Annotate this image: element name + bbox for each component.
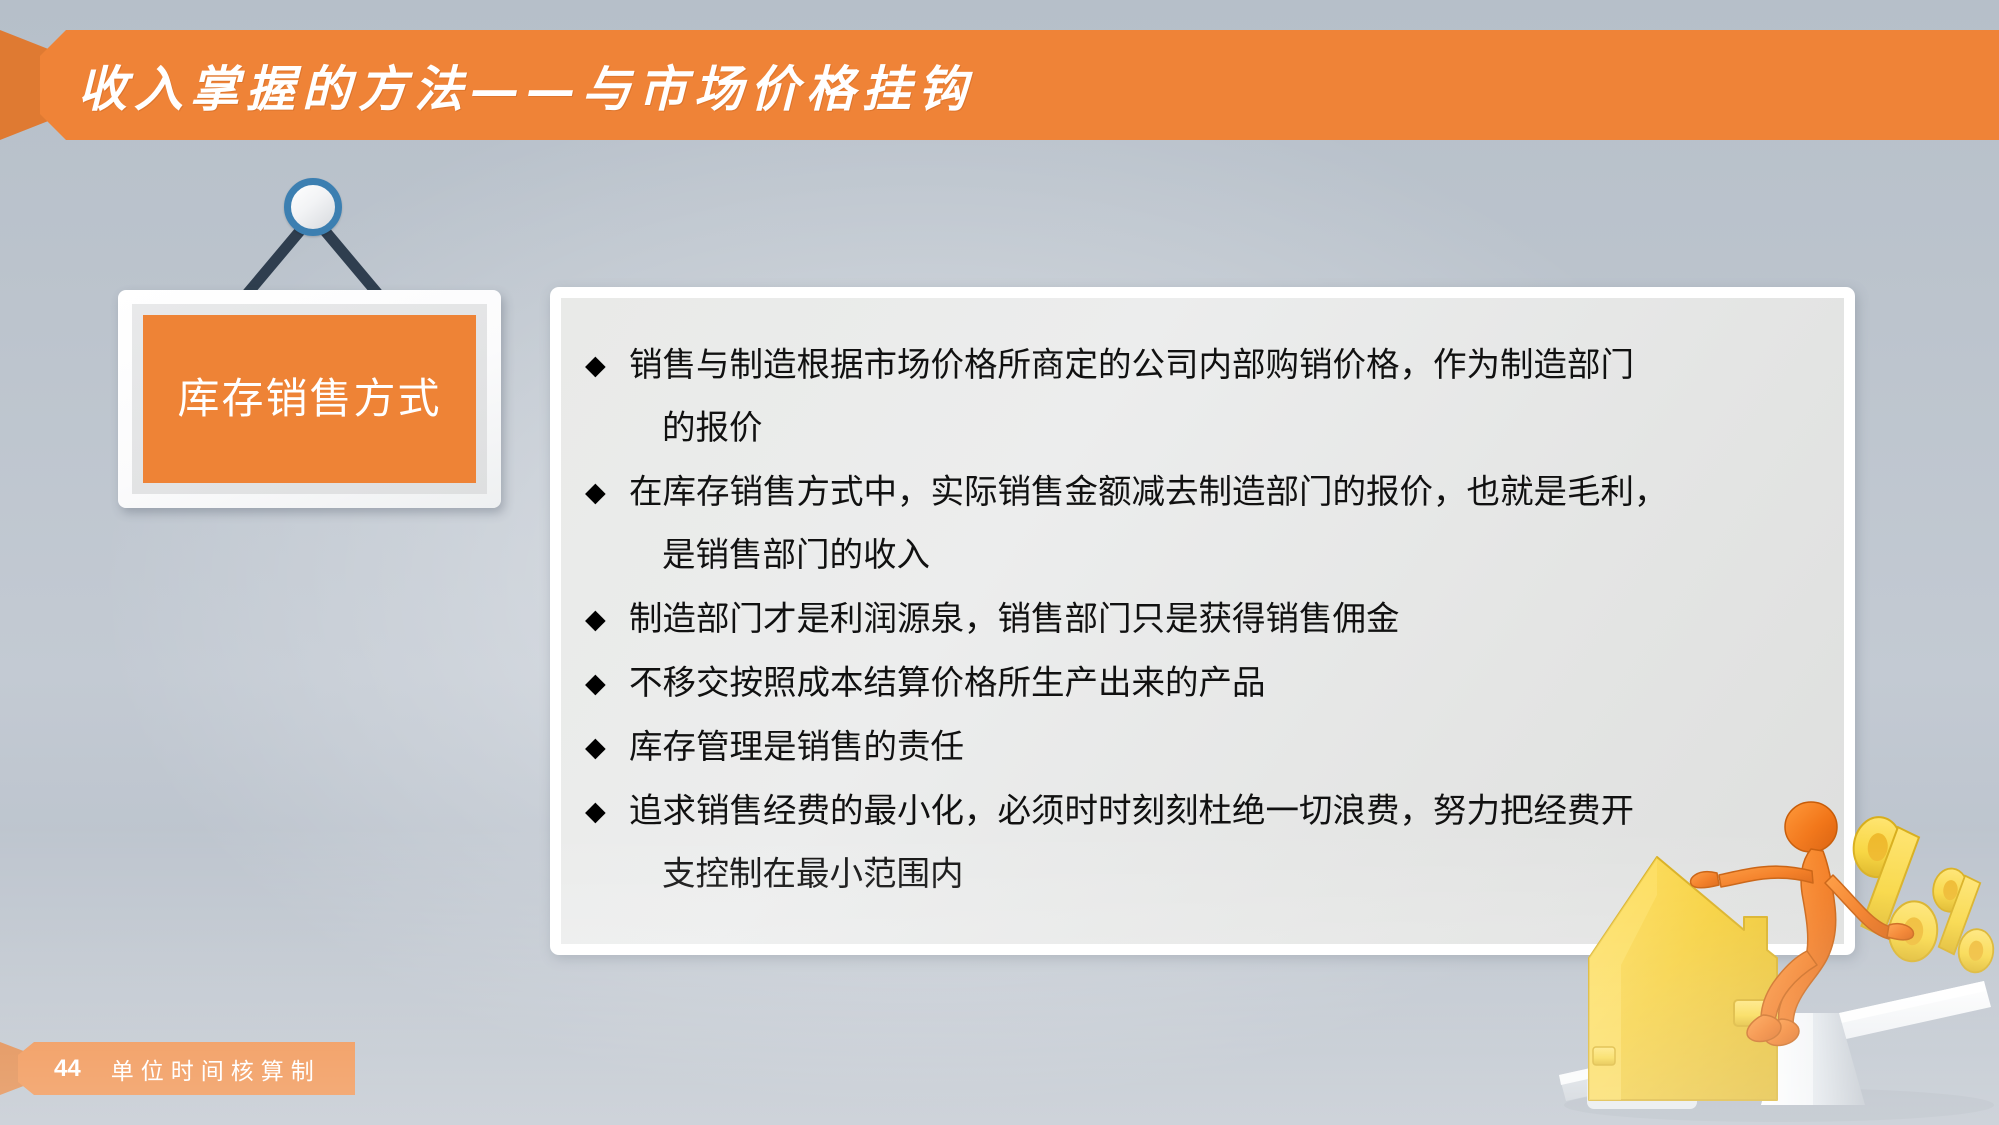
bullet-text: 不移交按照成本结算价格所生产出来的产品 xyxy=(629,652,1810,715)
plaque-inner: 库存销售方式 xyxy=(143,315,476,483)
diamond-bullet-icon: ◆ xyxy=(585,716,629,779)
bullet-line-1: 在库存销售方式中，实际销售金额减去制造部门的报价，也就是毛利， xyxy=(629,474,1668,511)
plaque-mat: 库存销售方式 xyxy=(132,304,487,494)
bullet-text: 销售与制造根据市场价格所商定的公司内部购销价格，作为制造部门 的报价 xyxy=(629,334,1810,460)
bullet-item: ◆ 不移交按照成本结算价格所生产出来的产品 xyxy=(585,652,1810,715)
footer-label: 单位时间核算制 xyxy=(111,1052,321,1086)
bullet-text: 制造部门才是利润源泉，销售部门只是获得销售佣金 xyxy=(629,588,1810,651)
plaque-frame: 库存销售方式 xyxy=(118,290,501,508)
bullet-text: 库存管理是销售的责任 xyxy=(629,716,1810,779)
house-icon xyxy=(1589,857,1782,1100)
bullet-line-1: 库存管理是销售的责任 xyxy=(629,729,964,766)
bullet-line-2: 的报价 xyxy=(629,397,1810,460)
page-number: 44 xyxy=(54,1055,81,1083)
ribbon-body: 收入掌握的方法——与市场价格挂钩 xyxy=(40,30,1999,140)
bullet-text: 在库存销售方式中，实际销售金额减去制造部门的报价，也就是毛利， 是销售部门的收入 xyxy=(629,461,1810,587)
bullet-item: ◆ 销售与制造根据市场价格所商定的公司内部购销价格，作为制造部门 的报价 xyxy=(585,334,1810,460)
bullet-line-1: 不移交按照成本结算价格所生产出来的产品 xyxy=(629,665,1266,702)
footer-body: 44 单位时间核算制 xyxy=(18,1042,355,1095)
seesaw-house-percent-figure-illustration xyxy=(1529,775,1999,1125)
bullet-item: ◆ 制造部门才是利润源泉，销售部门只是获得销售佣金 xyxy=(585,588,1810,651)
bullet-line-1: 追求销售经费的最小化，必须时时刻刻杜绝一切浪费，努力把经费开 xyxy=(629,793,1634,830)
bullet-line-1: 制造部门才是利润源泉，销售部门只是获得销售佣金 xyxy=(629,601,1400,638)
bullet-item: ◆ 库存管理是销售的责任 xyxy=(585,716,1810,779)
bullet-line-2: 是销售部门的收入 xyxy=(629,524,1810,587)
hanging-sign: 库存销售方式 xyxy=(118,178,508,508)
ring-hook-icon xyxy=(284,178,342,236)
slide-canvas: 收入掌握的方法——与市场价格挂钩 库存销售方式 ◆ 销售与制造根据市场价格所商定… xyxy=(0,0,1999,1125)
diamond-bullet-icon: ◆ xyxy=(585,588,629,651)
diamond-bullet-icon: ◆ xyxy=(585,780,629,843)
plaque-label: 库存销售方式 xyxy=(177,378,441,420)
page-title: 收入掌握的方法——与市场价格挂钩 xyxy=(40,50,974,121)
diamond-bullet-icon: ◆ xyxy=(585,461,629,524)
diamond-bullet-icon: ◆ xyxy=(585,652,629,715)
percent-sign-icon xyxy=(1842,815,1999,974)
title-ribbon: 收入掌握的方法——与市场价格挂钩 xyxy=(0,30,1999,140)
footer-tab: 44 单位时间核算制 xyxy=(0,1042,355,1095)
bullet-line-1: 销售与制造根据市场价格所商定的公司内部购销价格，作为制造部门 xyxy=(629,347,1634,384)
bullet-item: ◆ 在库存销售方式中，实际销售金额减去制造部门的报价，也就是毛利， 是销售部门的… xyxy=(585,461,1810,587)
diamond-bullet-icon: ◆ xyxy=(585,334,629,397)
